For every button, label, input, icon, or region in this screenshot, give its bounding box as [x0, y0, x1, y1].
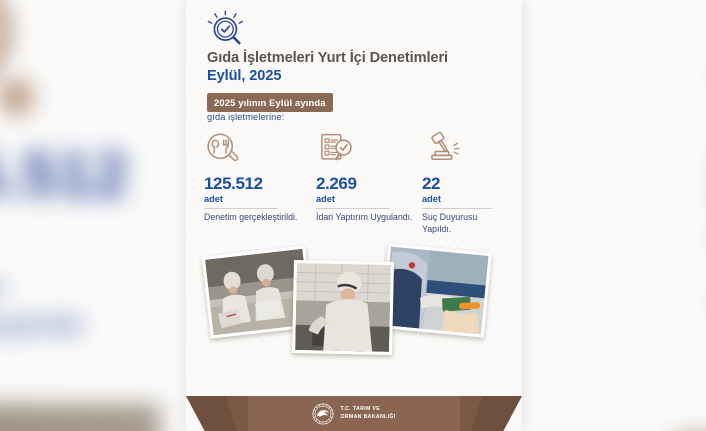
stat-number: 125.512 [204, 175, 316, 193]
stat-item: 22 adet Suç Duyurusu Yapıldı. [422, 131, 508, 236]
ministry-emblem-icon [312, 403, 334, 425]
photo-frame [292, 260, 394, 355]
checklist-magnifier-icon [316, 131, 357, 167]
photo-frame [380, 243, 492, 338]
divider [316, 208, 390, 209]
gavel-icon [422, 131, 463, 167]
stat-item: 125.512 adet Denetim gerçekleştirildi. [204, 131, 316, 236]
title-line-2: Eylül, 2025 [207, 68, 507, 86]
period-badge: 2025 yılının Eylül ayında [207, 93, 333, 112]
stat-unit: adet [422, 194, 508, 206]
ribbon-center: T.C. TARIM VE ORMAN BAKANLIĞI [248, 396, 460, 431]
ministry-ribbon: T.C. TARIM VE ORMAN BAKANLIĞI [186, 396, 522, 431]
stat-number: 22 [422, 175, 508, 193]
stat-description: Suç Duyurusu Yapıldı. [422, 212, 508, 235]
subtitle: gıda işletmelerine: [207, 112, 284, 122]
blurred-stat-number: 125.512 [0, 139, 129, 211]
blurred-stat-desc-2: gerçekleştirildi. [0, 309, 90, 341]
stat-item: 2.269 adet İdari Yaptırım Uygulandı. [316, 131, 422, 236]
stats-row: 125.512 adet Denetim gerçekleştirildi. [204, 131, 508, 236]
stat-unit: adet [204, 194, 316, 206]
stat-unit: adet [316, 194, 422, 206]
blurred-magnifier-handle [0, 80, 34, 115]
ribbon-line-1: T.C. TARIM VE [340, 406, 395, 414]
ribbon-line-2: ORMAN BAKANLIĞI [340, 414, 395, 422]
page-title: Gıda İşletmeleri Yurt İçi Denetimleri Ey… [207, 50, 507, 86]
title-line-1: Gıda İşletmeleri Yurt İçi Denetimleri [207, 50, 507, 67]
infographic-card: Gıda İşletmeleri Yurt İçi Denetimleri Ey… [186, 0, 522, 431]
blurred-photo-left [0, 404, 160, 431]
ribbon-text: T.C. TARIM VE ORMAN BAKANLIĞI [340, 406, 395, 421]
blurred-stat-desc-1: Denetim [0, 272, 5, 304]
magnifier-cutlery-icon [204, 131, 245, 167]
photo-collage [186, 248, 522, 363]
magnifier-check-icon [207, 9, 249, 51]
stat-number: 2.269 [316, 175, 422, 193]
photo-inspector-checking-produce [383, 246, 488, 334]
stat-description: İdari Yaptırım Uygulandı. [316, 212, 422, 224]
photo-inspector-at-counter [295, 263, 391, 352]
divider [422, 208, 492, 209]
stat-description: Denetim gerçekleştirildi. [204, 212, 316, 224]
divider [204, 208, 278, 209]
